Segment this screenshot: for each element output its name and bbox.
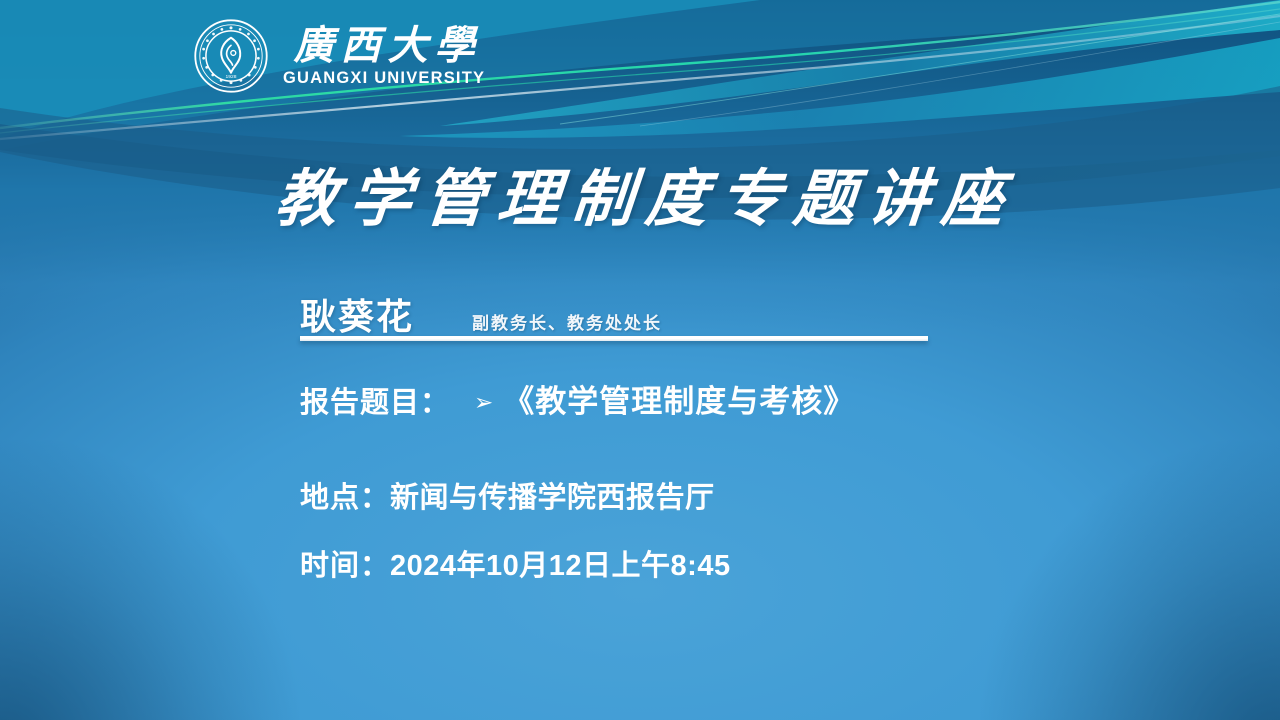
topic-label: 报告题目：: [300, 379, 450, 421]
presentation-slide: 1928 廣西大學 GUANGXI UNIVERSITY 教学管理制度专题讲座 …: [0, 0, 1280, 720]
place-value: 新闻与传播学院西报告厅: [390, 474, 715, 516]
university-wordmark: 廣西大學 GUANGXI UNIVERSITY: [283, 25, 485, 88]
svg-text:1928: 1928: [226, 74, 237, 80]
presenter-name: 耿葵花: [300, 288, 414, 340]
presenter-role: 副教务长、教务处处长: [472, 309, 662, 334]
university-name-cn: 廣西大學: [287, 25, 482, 67]
university-name-en: GUANGXI UNIVERSITY: [283, 69, 485, 88]
topic-row: 报告题目： ➢ 《教学管理制度与考核》: [300, 376, 855, 421]
university-logo: 1928 廣西大學 GUANGXI UNIVERSITY: [193, 18, 485, 94]
presenter-block: 耿葵花 副教务长、教务处处长: [300, 288, 662, 340]
arrow-bullet-icon: ➢: [474, 390, 493, 416]
slide-main-title: 教学管理制度专题讲座: [0, 148, 1280, 238]
time-row: 时间： 2024年10月12日上午8:45: [300, 542, 731, 584]
time-value: 2024年10月12日上午8:45: [390, 542, 731, 584]
university-seal-icon: 1928: [193, 18, 269, 94]
place-label: 地点：: [300, 474, 390, 516]
decorative-wave-graphic: [0, 0, 1280, 720]
time-label: 时间：: [300, 542, 390, 584]
topic-value: 《教学管理制度与考核》: [503, 376, 855, 421]
place-row: 地点： 新闻与传播学院西报告厅: [300, 474, 715, 516]
horizontal-divider: [300, 336, 928, 341]
